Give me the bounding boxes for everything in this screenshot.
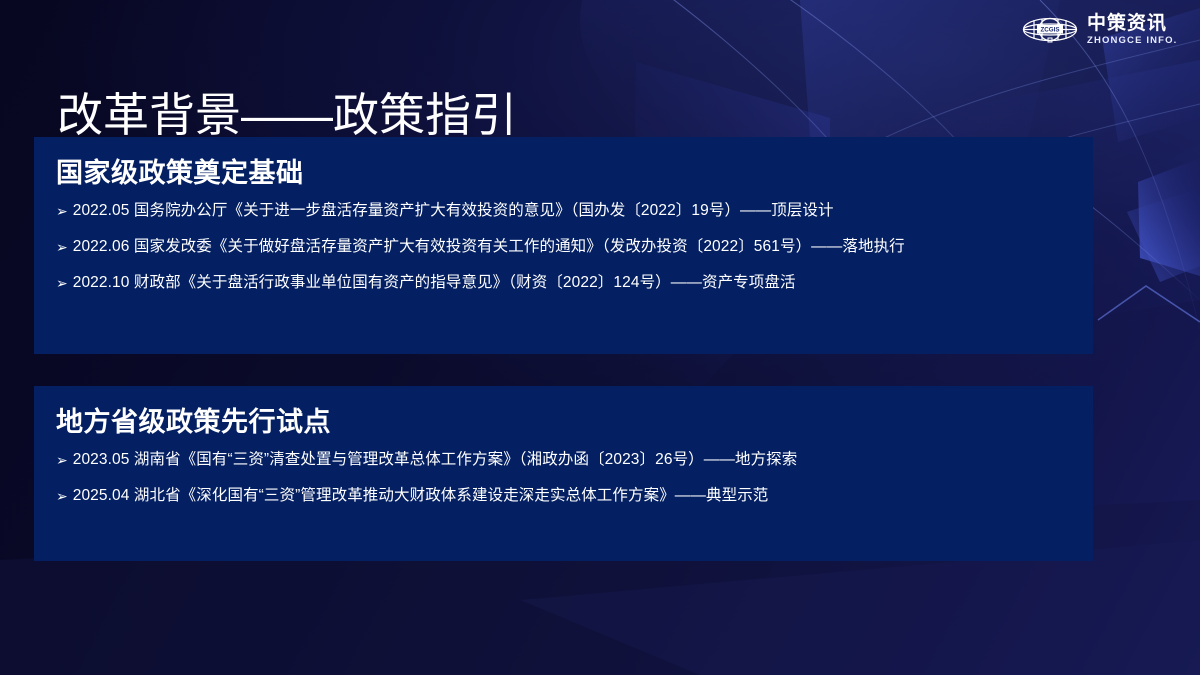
page-title: 改革背景——政策指引 xyxy=(57,90,517,142)
zcgis-globe-icon: ZCGIS xyxy=(1022,14,1078,45)
list-item: ➢ 2022.06 国家发改委《关于做好盘活存量资产扩大有效投资有关工作的通知》… xyxy=(56,237,1071,258)
panel-provincial-policy: 地方省级政策先行试点 ➢ 2023.05 湖南省《国有“三资”清查处置与管理改革… xyxy=(34,386,1093,561)
list-item: ➢ 2022.05 国务院办公厅《关于进一步盘活存量资产扩大有效投资的意见》（国… xyxy=(56,201,1071,222)
logo-wordmark: 中策资讯 ZHONGCE INFO. xyxy=(1087,14,1177,46)
panel-heading-provincial: 地方省级政策先行试点 xyxy=(56,406,1071,438)
chevron-bullet-icon: ➢ xyxy=(56,450,68,470)
chevron-bullet-icon: ➢ xyxy=(56,201,68,221)
logo-name-cn: 中策资讯 xyxy=(1087,14,1177,33)
list-item: ➢ 2023.05 湖南省《国有“三资”清查处置与管理改革总体工作方案》（湘政办… xyxy=(56,450,1071,471)
presentation-slide: ZCGIS 中策资讯 ZHONGCE INFO. 改革背景——政策指引 国家级政… xyxy=(0,0,1200,675)
zcgis-emblem-label: ZCGIS xyxy=(1040,27,1059,34)
list-item-text: 2023.05 湖南省《国有“三资”清查处置与管理改革总体工作方案》（湘政办函〔… xyxy=(73,450,798,471)
company-logo: ZCGIS 中策资讯 ZHONGCE INFO. xyxy=(1022,14,1177,46)
list-item-text: 2022.06 国家发改委《关于做好盘活存量资产扩大有效投资有关工作的通知》（发… xyxy=(73,237,905,258)
chevron-bullet-icon: ➢ xyxy=(56,237,68,257)
bullet-list-national: ➢ 2022.05 国务院办公厅《关于进一步盘活存量资产扩大有效投资的意见》（国… xyxy=(56,201,1071,294)
logo-name-en: ZHONGCE INFO. xyxy=(1087,36,1177,46)
panel-national-policy: 国家级政策奠定基础 ➢ 2022.05 国务院办公厅《关于进一步盘活存量资产扩大… xyxy=(34,137,1093,354)
list-item: ➢ 2025.04 湖北省《深化国有“三资”管理改革推动大财政体系建设走深走实总… xyxy=(56,486,1071,507)
list-item: ➢ 2022.10 财政部《关于盘活行政事业单位国有资产的指导意见》（财资〔20… xyxy=(56,273,1071,294)
list-item-text: 2022.10 财政部《关于盘活行政事业单位国有资产的指导意见》（财资〔2022… xyxy=(73,273,796,294)
panel-heading-national: 国家级政策奠定基础 xyxy=(56,157,1071,189)
chevron-bullet-icon: ➢ xyxy=(56,486,68,506)
list-item-text: 2022.05 国务院办公厅《关于进一步盘活存量资产扩大有效投资的意见》（国办发… xyxy=(73,201,834,222)
list-item-text: 2025.04 湖北省《深化国有“三资”管理改革推动大财政体系建设走深走实总体工… xyxy=(73,486,769,507)
bullet-list-provincial: ➢ 2023.05 湖南省《国有“三资”清查处置与管理改革总体工作方案》（湘政办… xyxy=(56,450,1071,507)
chevron-bullet-icon: ➢ xyxy=(56,273,68,293)
